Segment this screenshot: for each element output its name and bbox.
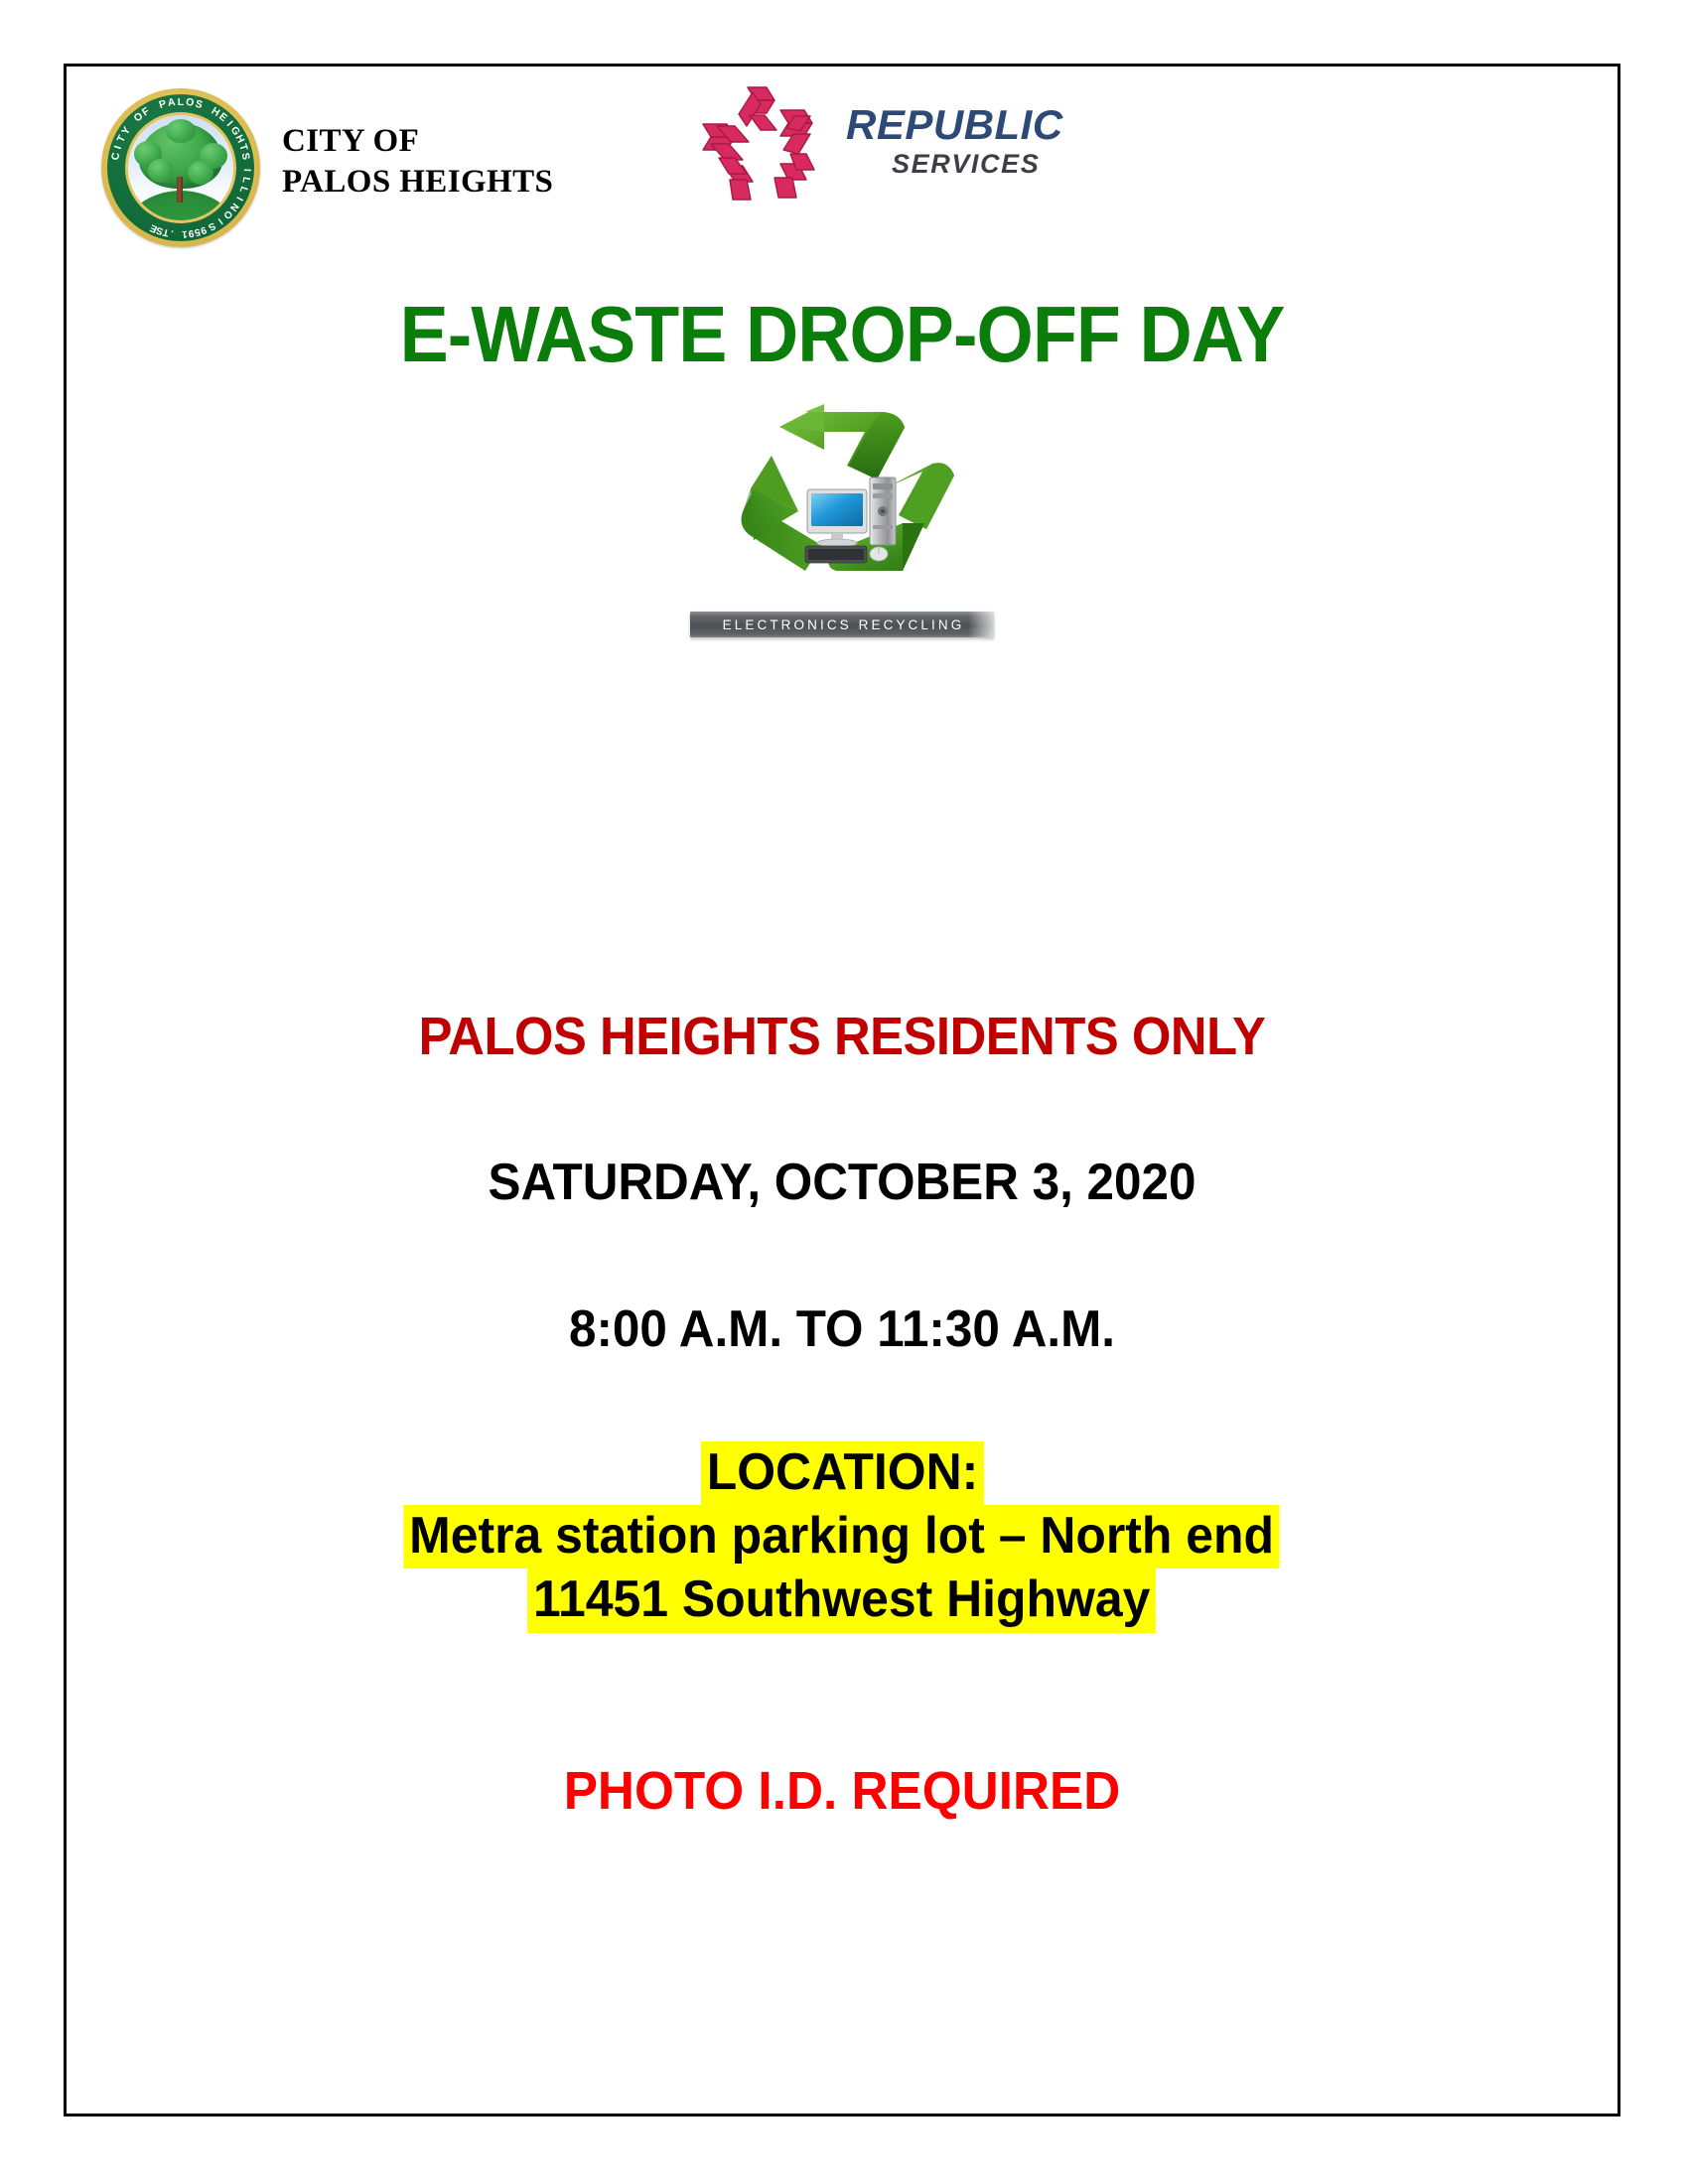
location-address-line1: Metra station parking lot – North end [404, 1505, 1280, 1569]
republic-word-top: REPUBLIC [846, 104, 1094, 146]
event-date: SATURDAY, OCTOBER 3, 2020 [105, 1157, 1579, 1208]
location-address-line2: 11451 Southwest Highway [528, 1569, 1157, 1632]
seal-ring-text: CITY OF PALOS HEIGHTSILLINOISEST. 1959 [101, 88, 260, 247]
photo-id-requirement: PHOTO I.D. REQUIRED [105, 1764, 1579, 1818]
seal-ring-char: I [113, 145, 124, 151]
seal-ring-char: S [239, 152, 251, 161]
location-label: LOCATION: [700, 1441, 983, 1505]
residents-only-notice: PALOS HEIGHTS RESIDENTS ONLY [113, 1010, 1571, 1063]
seal-ring-char: T [162, 226, 170, 237]
republic-wordmark: REPUBLIC SERVICES [846, 104, 1094, 178]
seal-ring-char: A [167, 97, 176, 108]
seal-ring-char: I [241, 169, 251, 172]
location-line1-row: Metra station parking lot – North end [67, 1505, 1618, 1569]
republic-services-logo: REPUBLIC SERVICES [695, 80, 1092, 209]
seal-ring-char: P [158, 99, 168, 111]
seal-ring-char [151, 102, 158, 113]
electronics-recycling-banner: ELECTRONICS RECYCLING [690, 612, 994, 637]
city-name-heading: CITY OF PALOS HEIGHTS [282, 121, 553, 202]
electronics-recycling-icon: ELECTRONICS RECYCLING [688, 394, 996, 637]
page-title: E-WASTE DROP-OFF DAY [128, 295, 1555, 374]
seal-ring-char: O [185, 97, 195, 109]
seal-ring-char [177, 228, 180, 238]
seal-ring-char: L [237, 185, 248, 194]
city-seal-icon: CITY OF PALOS HEIGHTSILLINOISEST. 1959 [101, 88, 260, 247]
flyer-border: CITY OF PALOS HEIGHTSILLINOISEST. 1959 C… [64, 64, 1620, 2116]
republic-star-icon [695, 82, 834, 204]
seal-ring-char: I [233, 195, 243, 202]
flyer-page: CITY OF PALOS HEIGHTSILLINOISEST. 1959 C… [0, 0, 1688, 2184]
seal-ring-char: T [237, 143, 249, 152]
flyer-header: CITY OF PALOS HEIGHTSILLINOISEST. 1959 C… [67, 67, 1618, 275]
seal-ring-char: I [215, 215, 223, 225]
location-line2-row: 11451 Southwest Highway [67, 1569, 1618, 1632]
electronics-recycling-caption: ELECTRONICS RECYCLING [690, 612, 994, 637]
seal-ring-char: C [110, 152, 122, 161]
seal-ring-char: L [178, 97, 184, 108]
republic-word-bottom: SERVICES [892, 151, 1094, 178]
seal-ring-char: . [170, 227, 174, 237]
event-time: 8:00 A.M. TO 11:30 A.M. [105, 1303, 1579, 1355]
location-label-row: LOCATION: [67, 1441, 1618, 1505]
seal-ring-char: S [207, 219, 217, 231]
seal-ring-char: S [194, 99, 204, 111]
location-block: LOCATION: Metra station parking lot – No… [67, 1441, 1618, 1633]
seal-ring-char: L [239, 176, 250, 184]
